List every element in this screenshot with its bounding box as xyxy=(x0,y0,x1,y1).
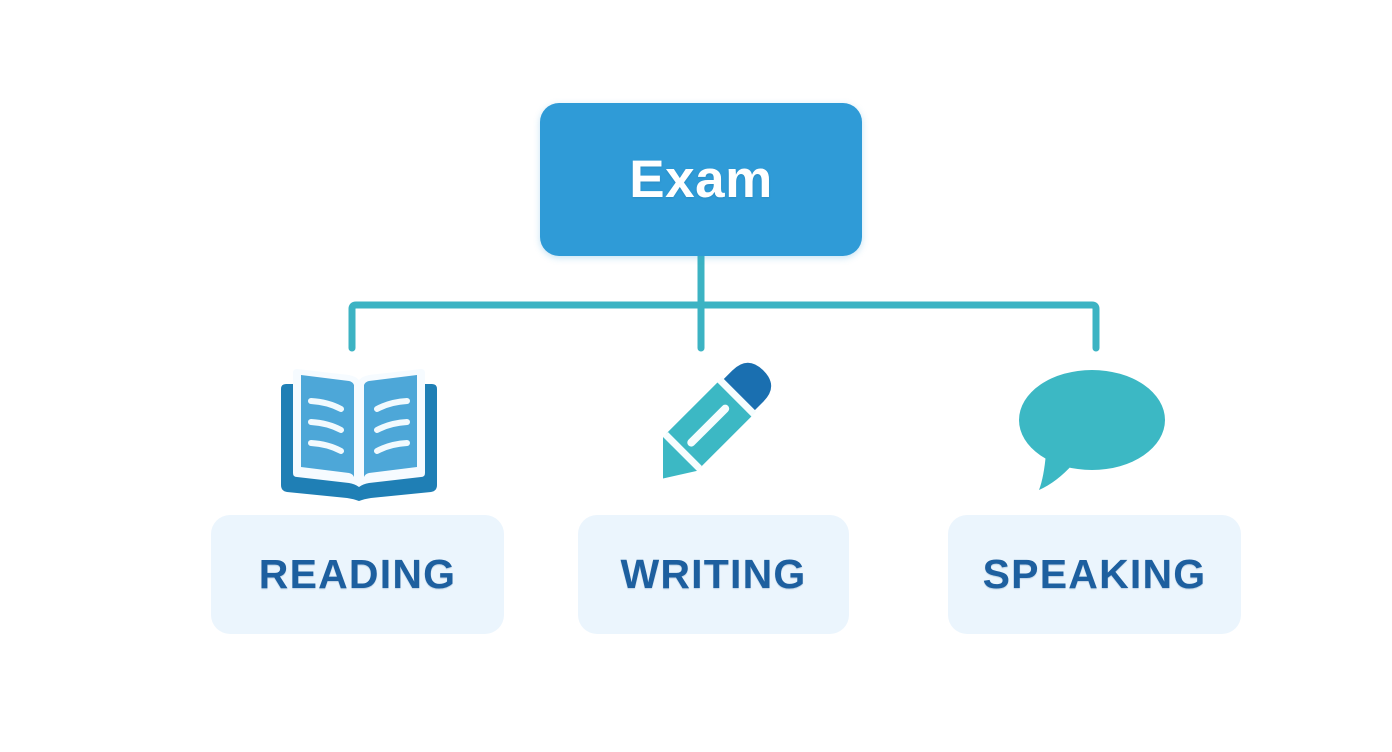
pencil-icon xyxy=(663,361,803,503)
root-node-label: Exam xyxy=(629,153,772,206)
leaf-node-reading[interactable]: READING xyxy=(211,515,504,634)
connector-branch-left xyxy=(352,305,701,348)
leaf-node-writing-label: WRITING xyxy=(620,554,806,595)
diagram-canvas: Exam xyxy=(0,0,1392,752)
open-book-icon xyxy=(279,364,439,501)
leaf-node-writing[interactable]: WRITING xyxy=(578,515,849,634)
root-node-exam[interactable]: Exam xyxy=(540,103,862,256)
connector-branch-right xyxy=(701,305,1096,348)
speech-bubble-body xyxy=(1019,370,1165,470)
speech-bubble-icon xyxy=(1016,365,1168,495)
leaf-node-speaking[interactable]: SPEAKING xyxy=(948,515,1241,634)
leaf-node-reading-label: READING xyxy=(259,554,456,595)
leaf-node-speaking-label: SPEAKING xyxy=(983,554,1207,595)
